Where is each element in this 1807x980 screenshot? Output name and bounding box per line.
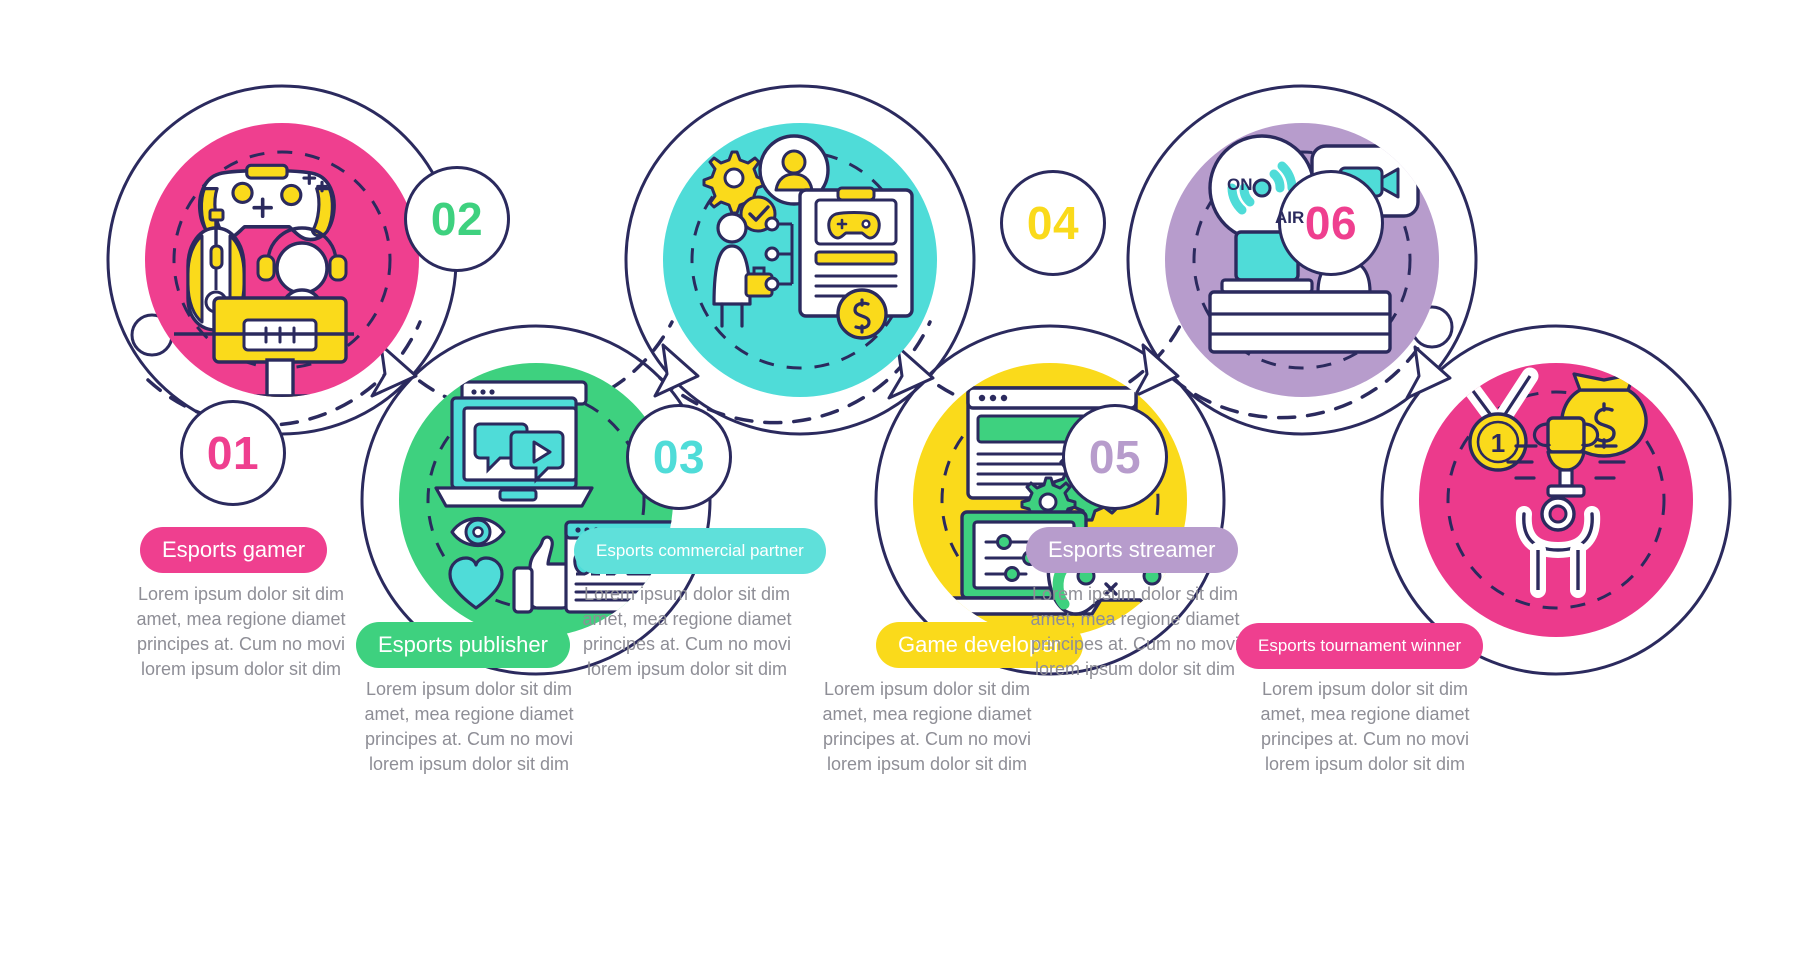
body-line: principes at. Cum no movi bbox=[360, 727, 578, 752]
step-label-text: Esports publisher bbox=[378, 632, 548, 658]
body-line: lorem ipsum dolor sit dim bbox=[1240, 752, 1490, 777]
on-air-on-label: ON bbox=[1227, 175, 1253, 195]
step-label-pill-03[interactable]: Esports commercial partner bbox=[574, 528, 826, 574]
medal-rank-label: 1 bbox=[1491, 428, 1505, 458]
body-line: Lorem ipsum dolor sit dim bbox=[360, 677, 578, 702]
step-label-pill-01[interactable]: Esports gamer bbox=[140, 527, 327, 573]
step-number-badge-03[interactable]: 03 bbox=[626, 404, 732, 510]
body-line: amet, mea regione diamet bbox=[578, 607, 796, 632]
step-label-text: Esports tournament winner bbox=[1258, 636, 1461, 656]
step-number-label: 04 bbox=[1027, 196, 1079, 250]
body-line: amet, mea regione diamet bbox=[132, 607, 350, 632]
body-line: amet, mea regione diamet bbox=[360, 702, 578, 727]
body-line: principes at. Cum no movi bbox=[1010, 632, 1260, 657]
step-number-label: 05 bbox=[1089, 430, 1141, 484]
body-line: principes at. Cum no movi bbox=[132, 632, 350, 657]
body-line: lorem ipsum dolor sit dim bbox=[578, 657, 796, 682]
body-line: lorem ipsum dolor sit dim bbox=[132, 657, 350, 682]
step-label-pill-05[interactable]: Esports streamer bbox=[1026, 527, 1238, 573]
step-label-text: Esports gamer bbox=[162, 537, 305, 563]
step-label-pill-06[interactable]: Esports tournament winner bbox=[1236, 623, 1483, 669]
step-label-text: Esports streamer bbox=[1048, 537, 1216, 563]
step-number-badge-02[interactable]: 02 bbox=[404, 166, 510, 272]
body-line: amet, mea regione diamet bbox=[1010, 607, 1260, 632]
step-body-text-05: Lorem ipsum dolor sit dim amet, mea regi… bbox=[1010, 582, 1260, 682]
body-line: Lorem ipsum dolor sit dim bbox=[1010, 582, 1260, 607]
step-1-circle bbox=[145, 123, 419, 410]
body-line: Lorem ipsum dolor sit dim bbox=[132, 582, 350, 607]
step-body-text-06: Lorem ipsum dolor sit dim amet, mea regi… bbox=[1240, 677, 1490, 777]
step-label-pill-02[interactable]: Esports publisher bbox=[356, 622, 570, 668]
infographic-graphics: 1 bbox=[0, 0, 1807, 980]
body-line: Lorem ipsum dolor sit dim bbox=[578, 582, 796, 607]
infographic-canvas: 1 bbox=[0, 0, 1807, 980]
step-number-label: 01 bbox=[207, 426, 259, 480]
step-3-circle bbox=[663, 123, 937, 397]
step-body-text-04: Lorem ipsum dolor sit dim amet, mea regi… bbox=[802, 677, 1052, 777]
step-body-text-02: Lorem ipsum dolor sit dim amet, mea regi… bbox=[360, 677, 578, 777]
step-body-text-01: Lorem ipsum dolor sit dim amet, mea regi… bbox=[132, 582, 350, 682]
step-number-badge-04[interactable]: 04 bbox=[1000, 170, 1106, 276]
step-number-label: 02 bbox=[431, 192, 483, 246]
step-6-circle: 1 bbox=[1419, 363, 1693, 637]
step-number-badge-01[interactable]: 01 bbox=[180, 400, 286, 506]
body-line: amet, mea regione diamet bbox=[1240, 702, 1490, 727]
step-number-label: 03 bbox=[653, 430, 705, 484]
body-line: principes at. Cum no movi bbox=[802, 727, 1052, 752]
body-line: principes at. Cum no movi bbox=[1240, 727, 1490, 752]
body-line: amet, mea regione diamet bbox=[802, 702, 1052, 727]
body-line: lorem ipsum dolor sit dim bbox=[360, 752, 578, 777]
on-air-air-label: AIR bbox=[1275, 208, 1304, 228]
body-line: Lorem ipsum dolor sit dim bbox=[1240, 677, 1490, 702]
step-number-label: 06 bbox=[1305, 196, 1357, 250]
body-line: lorem ipsum dolor sit dim bbox=[802, 752, 1052, 777]
step-body-text-03: Lorem ipsum dolor sit dim amet, mea regi… bbox=[578, 582, 796, 682]
body-line: lorem ipsum dolor sit dim bbox=[1010, 657, 1260, 682]
step-label-text: Esports commercial partner bbox=[596, 541, 804, 561]
body-line: principes at. Cum no movi bbox=[578, 632, 796, 657]
step-number-badge-05[interactable]: 05 bbox=[1062, 404, 1168, 510]
